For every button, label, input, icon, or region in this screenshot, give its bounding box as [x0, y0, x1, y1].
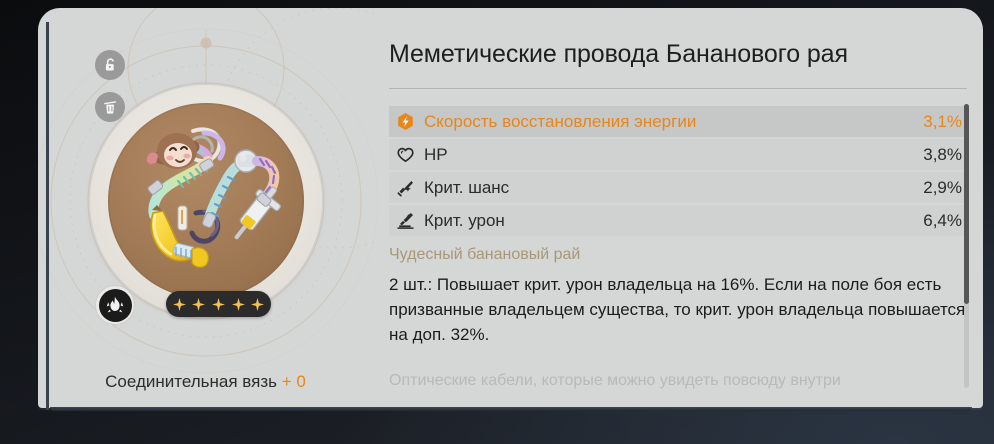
stat-name: Скорость восстановления энергии [424, 112, 923, 132]
title-divider [389, 88, 967, 89]
stat-name: Крит. шанс [424, 178, 923, 198]
stat-row: Крит. урон 6,4% [389, 205, 968, 236]
energy-regen-icon [396, 112, 415, 131]
stat-value: 2,9% [923, 178, 962, 198]
set-name: Чудесный банановый рай [389, 246, 580, 264]
flavor-text: Оптические кабели, которые можно увидеть… [389, 372, 983, 390]
stat-name: HP [424, 145, 923, 165]
fire-element-icon [104, 294, 126, 316]
stat-list: Скорость восстановления энергии 3,1% HP … [389, 106, 968, 238]
relic-slot-name: Соединительная вязь [105, 372, 277, 391]
star-icon [251, 298, 264, 311]
content-scrollbar[interactable] [964, 104, 969, 388]
star-icon [212, 298, 225, 311]
panel-left-edge [46, 22, 49, 410]
star-icon [173, 298, 186, 311]
element-badge-core [99, 289, 132, 322]
stat-row-main: Скорость восстановления энергии 3,1% [389, 106, 968, 137]
item-info-column: Меметические провода Бананового рая Скор… [378, 8, 983, 408]
delete-button[interactable] [95, 92, 125, 122]
star-icon [232, 298, 245, 311]
element-badge[interactable] [95, 285, 135, 325]
rarity-star-rating [166, 291, 271, 317]
stat-value: 6,4% [923, 211, 962, 231]
content-scrollbar-thumb[interactable] [964, 104, 969, 304]
hp-heart-icon [396, 145, 415, 164]
stat-name: Крит. урон [424, 211, 923, 231]
item-illustration [108, 103, 304, 299]
set-effect-description: 2 шт.: Повышает крит. урон владельца на … [389, 272, 969, 347]
stat-row: HP 3,8% [389, 139, 968, 170]
item-artwork-column: Соединительная вязь + 0 [38, 8, 378, 408]
stat-row: Крит. шанс 2,9% [389, 172, 968, 203]
panel-bottom-edge [50, 407, 972, 411]
crit-damage-icon [396, 211, 415, 230]
star-icon [192, 298, 205, 311]
trash-icon [102, 99, 119, 116]
item-detail-panel: Соединительная вязь + 0 Меметические про… [38, 8, 983, 408]
lock-open-icon [102, 57, 119, 74]
relic-slot-label: Соединительная вязь + 0 [38, 372, 373, 392]
stat-value: 3,8% [923, 145, 962, 165]
crit-rate-icon [396, 178, 415, 197]
relic-slot-level: + 0 [282, 372, 306, 391]
item-title: Меметические провода Бананового рая [389, 40, 969, 69]
stat-value: 3,1% [923, 112, 962, 132]
lock-button[interactable] [95, 50, 125, 80]
